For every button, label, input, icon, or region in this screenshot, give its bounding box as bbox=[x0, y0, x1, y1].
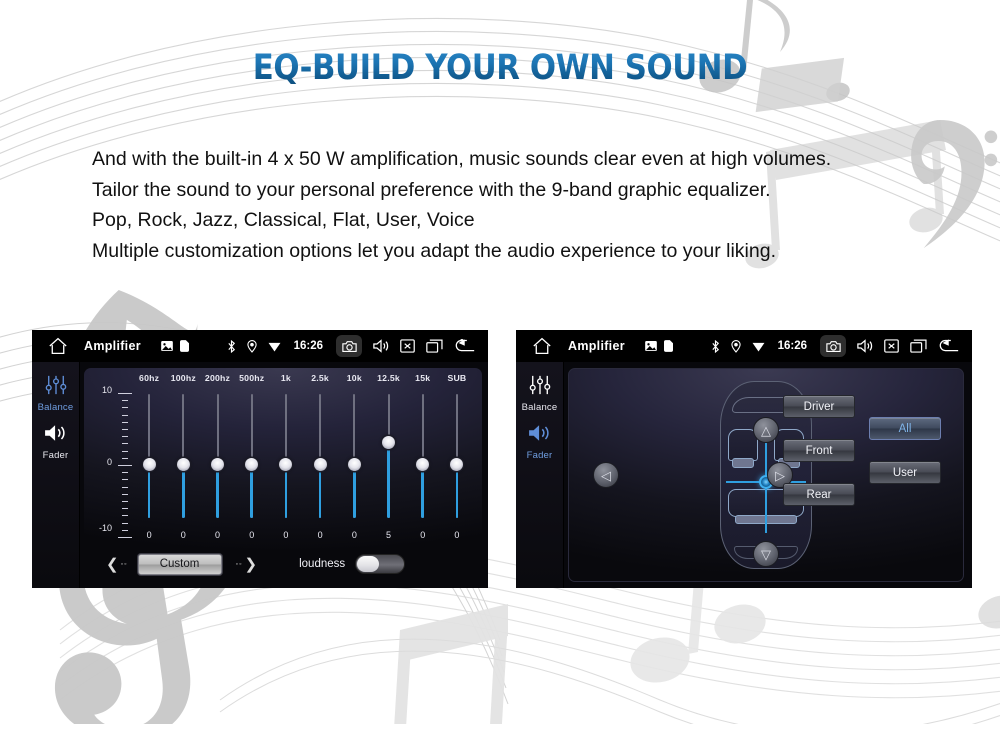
description-line-2: Tailor the sound to your personal prefer… bbox=[92, 175, 831, 206]
eq-band-knob[interactable] bbox=[416, 458, 429, 471]
eq-band-fill bbox=[182, 464, 185, 518]
page-title: EQ-BUILD YOUR OWN SOUND bbox=[253, 48, 748, 88]
sidebar-item-balance-label: Balance bbox=[38, 402, 74, 413]
eq-band-3[interactable]: 0 bbox=[235, 390, 269, 542]
scale-tick bbox=[122, 422, 128, 423]
page-title-container: EQ-BUILD YOUR OWN SOUND bbox=[0, 48, 1000, 88]
arrow-up-button[interactable]: △ bbox=[753, 417, 779, 443]
side-rail: Balance Fader bbox=[32, 362, 80, 588]
eq-band-value: 0 bbox=[303, 530, 337, 540]
status-bar: Amplifier 16: bbox=[32, 330, 488, 362]
frequency-label-4: 1k bbox=[269, 373, 303, 387]
scale-label-minus10: -10 bbox=[99, 523, 112, 533]
app-title: Amplifier bbox=[84, 339, 141, 353]
home-icon[interactable] bbox=[516, 337, 568, 355]
frequency-label-3: 500hz bbox=[235, 373, 269, 387]
speaker-icon bbox=[527, 423, 553, 448]
eq-band-value: 0 bbox=[166, 530, 200, 540]
description-line-1: And with the built-in 4 x 50 W amplifica… bbox=[92, 144, 831, 175]
frequency-label-2: 200hz bbox=[200, 373, 234, 387]
eq-band-value: 0 bbox=[235, 530, 269, 540]
frequency-labels: 60hz100hz200hz500hz1k2.5k10k12.5k15kSUB bbox=[132, 373, 474, 387]
arrow-left-icon: ◁ bbox=[601, 469, 611, 482]
scale-tick bbox=[118, 465, 132, 466]
scale-label-zero: 0 bbox=[107, 457, 112, 467]
scale-tick bbox=[122, 530, 128, 531]
eq-band-knob[interactable] bbox=[382, 436, 395, 449]
eq-band-0[interactable]: 0 bbox=[132, 390, 166, 542]
eq-band-fill bbox=[353, 464, 356, 518]
location-pin-icon bbox=[247, 340, 257, 353]
scale-tick bbox=[122, 501, 128, 502]
scale-tick bbox=[122, 436, 128, 437]
eq-band-value: 0 bbox=[440, 530, 474, 540]
equalizer-body: Balance Fader 60hz100hz200hz500hz1k2.5k1… bbox=[32, 362, 488, 588]
back-icon[interactable] bbox=[938, 339, 960, 353]
scale-tick bbox=[118, 537, 132, 538]
eq-band-value: 5 bbox=[371, 530, 405, 540]
arrow-down-button[interactable]: ▽ bbox=[753, 541, 779, 567]
eq-band-fill bbox=[319, 464, 322, 518]
eq-band-fill bbox=[216, 464, 219, 518]
loudness-label: loudness bbox=[299, 558, 345, 570]
wifi-icon bbox=[752, 341, 765, 352]
eq-band-fill bbox=[387, 442, 390, 518]
fader-body: Balance Fader bbox=[516, 362, 972, 588]
prev-preset-button[interactable]: ❮ ◦◦ bbox=[106, 555, 128, 573]
position-preset-buttons: DriverFrontRearAllUser bbox=[783, 395, 953, 545]
side-rail-right: Balance Fader bbox=[516, 362, 564, 588]
fader-screenshot: Amplifier 16: bbox=[516, 330, 972, 588]
recents-icon[interactable] bbox=[426, 339, 443, 353]
scale-tick bbox=[122, 400, 128, 401]
home-icon[interactable] bbox=[32, 337, 84, 355]
eq-band-knob[interactable] bbox=[211, 458, 224, 471]
sidebar-item-balance-label: Balance bbox=[522, 402, 558, 413]
close-box-icon[interactable] bbox=[884, 339, 899, 353]
eq-band-2[interactable]: 0 bbox=[200, 390, 234, 542]
scale-tick bbox=[122, 415, 128, 416]
frequency-label-9: SUB bbox=[440, 373, 474, 387]
equalizer-bottom-bar: ❮ ◦◦ Custom ◦◦ ❯ loudness bbox=[84, 544, 482, 584]
scale-tick bbox=[122, 458, 128, 459]
fader-preset-all-button[interactable]: All bbox=[869, 417, 941, 440]
fader-preset-rear-button[interactable]: Rear bbox=[783, 483, 855, 506]
frequency-label-8: 15k bbox=[406, 373, 440, 387]
equalizer-sliders-icon bbox=[528, 375, 552, 400]
preset-custom-button[interactable]: Custom bbox=[138, 554, 222, 575]
speaker-icon bbox=[43, 423, 69, 448]
equalizer-sliders: 0000000500 bbox=[132, 390, 474, 542]
eq-band-value: 0 bbox=[132, 530, 166, 540]
volume-icon[interactable] bbox=[857, 339, 873, 353]
sim-card-icon bbox=[664, 340, 673, 352]
next-preset-button[interactable]: ◦◦ ❯ bbox=[236, 555, 258, 573]
image-icon bbox=[645, 341, 657, 351]
sidebar-item-fader[interactable]: Fader bbox=[516, 423, 563, 461]
wifi-icon bbox=[268, 341, 281, 352]
volume-icon[interactable] bbox=[373, 339, 389, 353]
eq-band-value: 0 bbox=[200, 530, 234, 540]
eq-band-knob[interactable] bbox=[245, 458, 258, 471]
sidebar-item-fader-label: Fader bbox=[527, 450, 553, 461]
gain-scale: 10 0 -10 bbox=[90, 390, 134, 540]
eq-band-8[interactable]: 0 bbox=[406, 390, 440, 542]
recents-icon[interactable] bbox=[910, 339, 927, 353]
arrow-down-icon: ▽ bbox=[761, 548, 771, 561]
bluetooth-icon bbox=[227, 340, 236, 353]
eq-band-fill bbox=[285, 464, 288, 518]
app-title: Amplifier bbox=[568, 339, 625, 353]
eq-band-7[interactable]: 5 bbox=[371, 390, 405, 542]
arrow-up-icon: △ bbox=[761, 424, 771, 437]
scale-tick bbox=[122, 451, 128, 452]
eq-band-fill bbox=[421, 464, 424, 518]
description-line-3: Pop, Rock, Jazz, Classical, Flat, User, … bbox=[92, 205, 831, 236]
loudness-toggle[interactable] bbox=[355, 554, 405, 574]
description-line-4: Multiple customization options let you a… bbox=[92, 236, 831, 267]
eq-band-knob[interactable] bbox=[450, 458, 463, 471]
sidebar-item-fader-label: Fader bbox=[43, 450, 69, 461]
eq-band-fill bbox=[456, 464, 459, 518]
loudness-toggle-knob bbox=[357, 556, 379, 572]
chevron-right-icon: ❯ bbox=[245, 555, 258, 573]
frequency-label-0: 60hz bbox=[132, 373, 166, 387]
sidebar-item-balance[interactable]: Balance bbox=[516, 375, 563, 413]
scale-tick bbox=[118, 393, 132, 394]
description-block: And with the built-in 4 x 50 W amplifica… bbox=[92, 144, 831, 266]
scale-label-plus10: 10 bbox=[102, 385, 112, 395]
eq-band-knob[interactable] bbox=[279, 458, 292, 471]
scale-tick bbox=[122, 429, 128, 430]
eq-band-fill bbox=[148, 464, 151, 518]
equalizer-sliders-icon bbox=[44, 375, 68, 400]
status-bar-right: Amplifier 16: bbox=[516, 330, 972, 362]
frequency-label-7: 12.5k bbox=[371, 373, 405, 387]
fader-preset-driver-button[interactable]: Driver bbox=[783, 395, 855, 418]
clock: 16:26 bbox=[294, 340, 323, 352]
back-icon[interactable] bbox=[454, 339, 476, 353]
scale-tick bbox=[122, 472, 128, 473]
scale-tick bbox=[122, 479, 128, 480]
location-pin-icon bbox=[731, 340, 741, 353]
frequency-label-5: 2.5k bbox=[303, 373, 337, 387]
scale-tick bbox=[122, 515, 128, 516]
scale-tick bbox=[122, 523, 128, 524]
eq-band-9[interactable]: 0 bbox=[440, 390, 474, 542]
eq-band-knob[interactable] bbox=[314, 458, 327, 471]
eq-band-knob[interactable] bbox=[177, 458, 190, 471]
sidebar-item-fader[interactable]: Fader bbox=[32, 423, 79, 461]
frequency-label-1: 100hz bbox=[166, 373, 200, 387]
image-icon bbox=[161, 341, 173, 351]
fader-stage: △ ▽ ◁ ▷ DriverFrontRearAllUser bbox=[568, 368, 964, 582]
fader-preset-front-button[interactable]: Front bbox=[783, 439, 855, 462]
scale-tick bbox=[122, 508, 128, 509]
eq-band-6[interactable]: 0 bbox=[337, 390, 371, 542]
clock: 16:26 bbox=[778, 340, 807, 352]
arrow-left-button[interactable]: ◁ bbox=[593, 462, 619, 488]
scale-tick bbox=[122, 487, 128, 488]
eq-band-fill bbox=[250, 464, 253, 518]
close-box-icon[interactable] bbox=[400, 339, 415, 353]
equalizer-stage: 60hz100hz200hz500hz1k2.5k10k12.5k15kSUB … bbox=[84, 368, 482, 584]
equalizer-screenshot: Amplifier 16: bbox=[32, 330, 488, 588]
eq-band-1[interactable]: 0 bbox=[166, 390, 200, 542]
scale-tick bbox=[122, 443, 128, 444]
sim-card-icon bbox=[180, 340, 189, 352]
prev-dots: ◦◦ bbox=[121, 561, 128, 568]
eq-band-5[interactable]: 0 bbox=[303, 390, 337, 542]
eq-band-value: 0 bbox=[337, 530, 371, 540]
eq-band-knob[interactable] bbox=[348, 458, 361, 471]
camera-icon[interactable] bbox=[820, 335, 846, 357]
scale-tick bbox=[122, 494, 128, 495]
eq-band-value: 0 bbox=[406, 530, 440, 540]
bluetooth-icon bbox=[711, 340, 720, 353]
frequency-label-6: 10k bbox=[337, 373, 371, 387]
sidebar-item-balance[interactable]: Balance bbox=[32, 375, 79, 413]
fader-preset-user-button[interactable]: User bbox=[869, 461, 941, 484]
eq-band-knob[interactable] bbox=[143, 458, 156, 471]
scale-tick bbox=[122, 407, 128, 408]
camera-icon[interactable] bbox=[336, 335, 362, 357]
chevron-left-icon: ❮ bbox=[106, 555, 119, 573]
eq-band-4[interactable]: 0 bbox=[269, 390, 303, 542]
eq-band-value: 0 bbox=[269, 530, 303, 540]
next-dots: ◦◦ bbox=[236, 561, 243, 568]
